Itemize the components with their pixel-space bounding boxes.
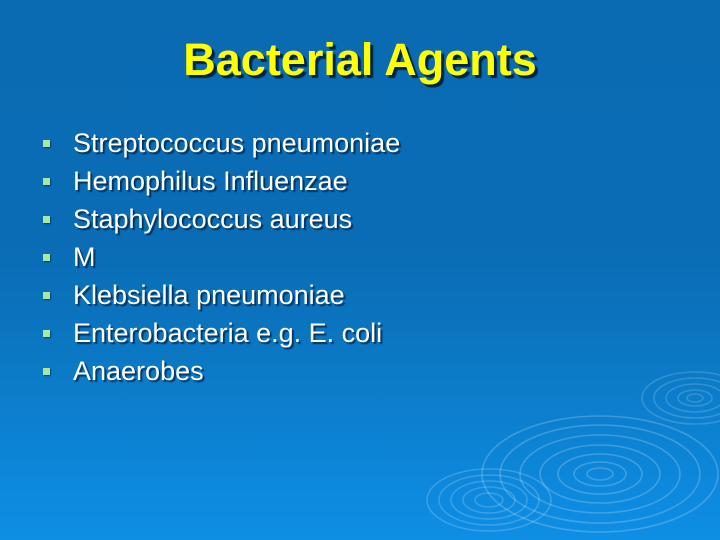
- slide-canvas: Bacterial Agents Streptococcus pneumonia…: [0, 0, 720, 540]
- list-item-label: Hemophilus Influenzae: [73, 166, 348, 196]
- slide-title: Bacterial Agents: [183, 36, 536, 83]
- list-item-label: M: [73, 242, 96, 272]
- list-item-label: Enterobacteria e.g. E. coli: [73, 318, 382, 348]
- square-bullet-icon: [43, 292, 50, 299]
- list-item: M: [40, 238, 680, 276]
- square-bullet-icon: [43, 178, 50, 185]
- list-item: Klebsiella pneumoniae: [40, 276, 680, 314]
- list-item: Anaerobes: [40, 352, 680, 390]
- list-item-label: Streptococcus pneumoniae: [73, 128, 400, 158]
- list-item: Enterobacteria e.g. E. coli: [40, 314, 680, 352]
- slide-title-container: Bacterial Agents: [0, 36, 720, 83]
- list-item: Staphylococcus aureus: [40, 200, 680, 238]
- square-bullet-icon: [43, 216, 50, 223]
- square-bullet-icon: [43, 368, 50, 375]
- square-bullet-icon: [43, 254, 50, 261]
- ripple-medium: [427, 469, 551, 531]
- list-item: Streptococcus pneumoniae: [40, 124, 680, 162]
- square-bullet-icon: [43, 140, 50, 147]
- list-item-label: Anaerobes: [73, 356, 204, 386]
- list-item-label: Klebsiella pneumoniae: [73, 280, 345, 310]
- square-bullet-icon: [43, 330, 50, 337]
- ripple-large: [482, 416, 718, 532]
- list-item-label: Staphylococcus aureus: [73, 204, 352, 234]
- bacterial-agents-list: Streptococcus pneumoniae Hemophilus Infl…: [40, 124, 680, 390]
- list-item: Hemophilus Influenzae: [40, 162, 680, 200]
